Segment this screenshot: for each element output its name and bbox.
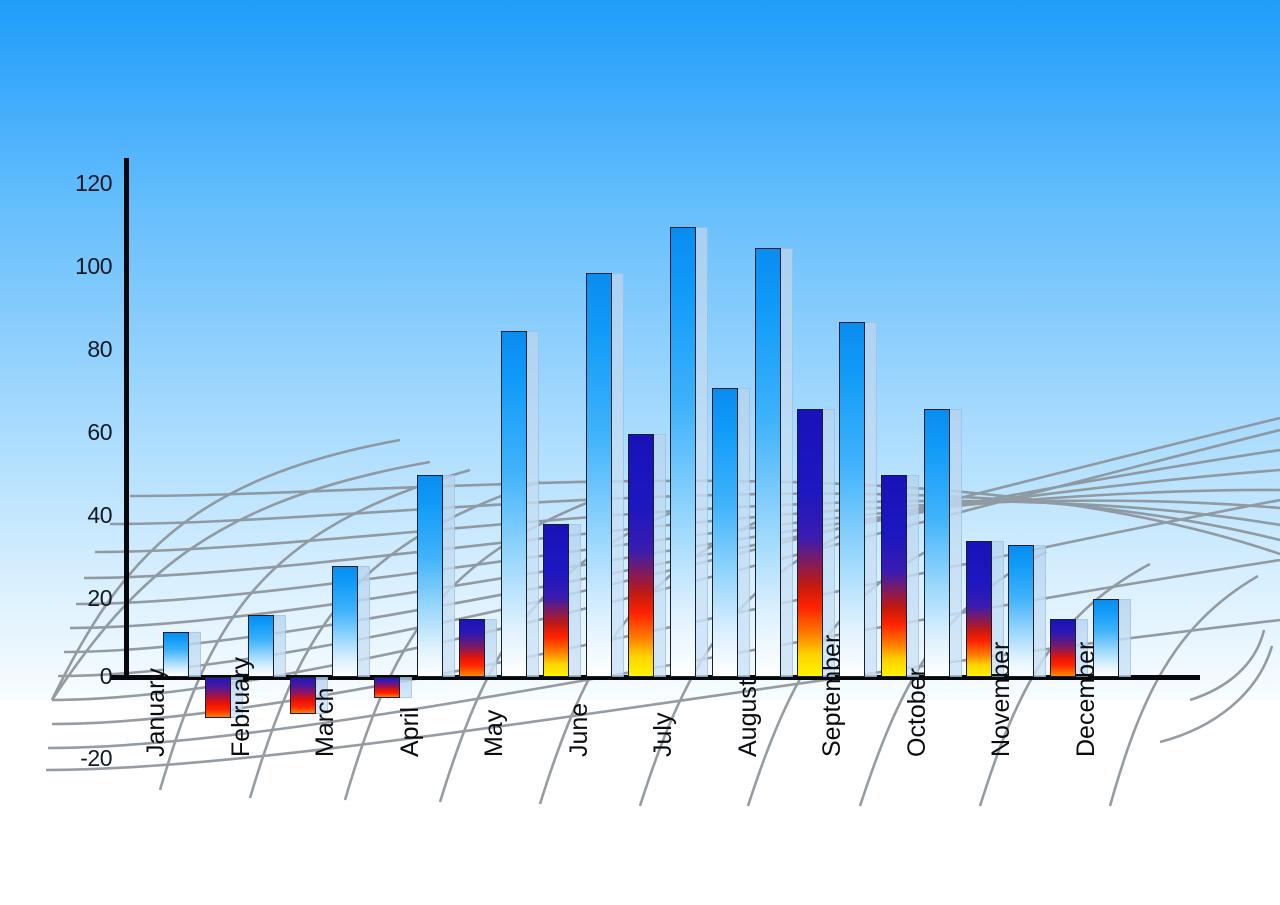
x-axis-label-january: January: [142, 668, 171, 757]
x-axis-label-july: July: [649, 713, 678, 757]
plot-area: 120 100 80 60 40 20 0 -20 JanuaryFebruar…: [0, 0, 1280, 905]
x-axis-label-november: November: [987, 642, 1016, 757]
x-axis-label-february: February: [227, 657, 256, 757]
x-axis-labels: JanuaryFebruaryMarchAprilMayJuneJulyAugu…: [0, 0, 1280, 905]
x-axis-label-june: June: [565, 703, 594, 757]
x-axis-label-march: March: [311, 688, 340, 757]
x-axis-label-september: September: [818, 635, 847, 757]
x-axis-label-august: August: [734, 679, 763, 757]
x-axis-label-april: April: [396, 707, 425, 757]
chart-root: 120 100 80 60 40 20 0 -20 JanuaryFebruar…: [0, 0, 1280, 905]
x-axis-label-october: October: [903, 668, 932, 757]
x-axis-label-december: December: [1072, 642, 1101, 757]
x-axis-label-may: May: [480, 710, 509, 757]
